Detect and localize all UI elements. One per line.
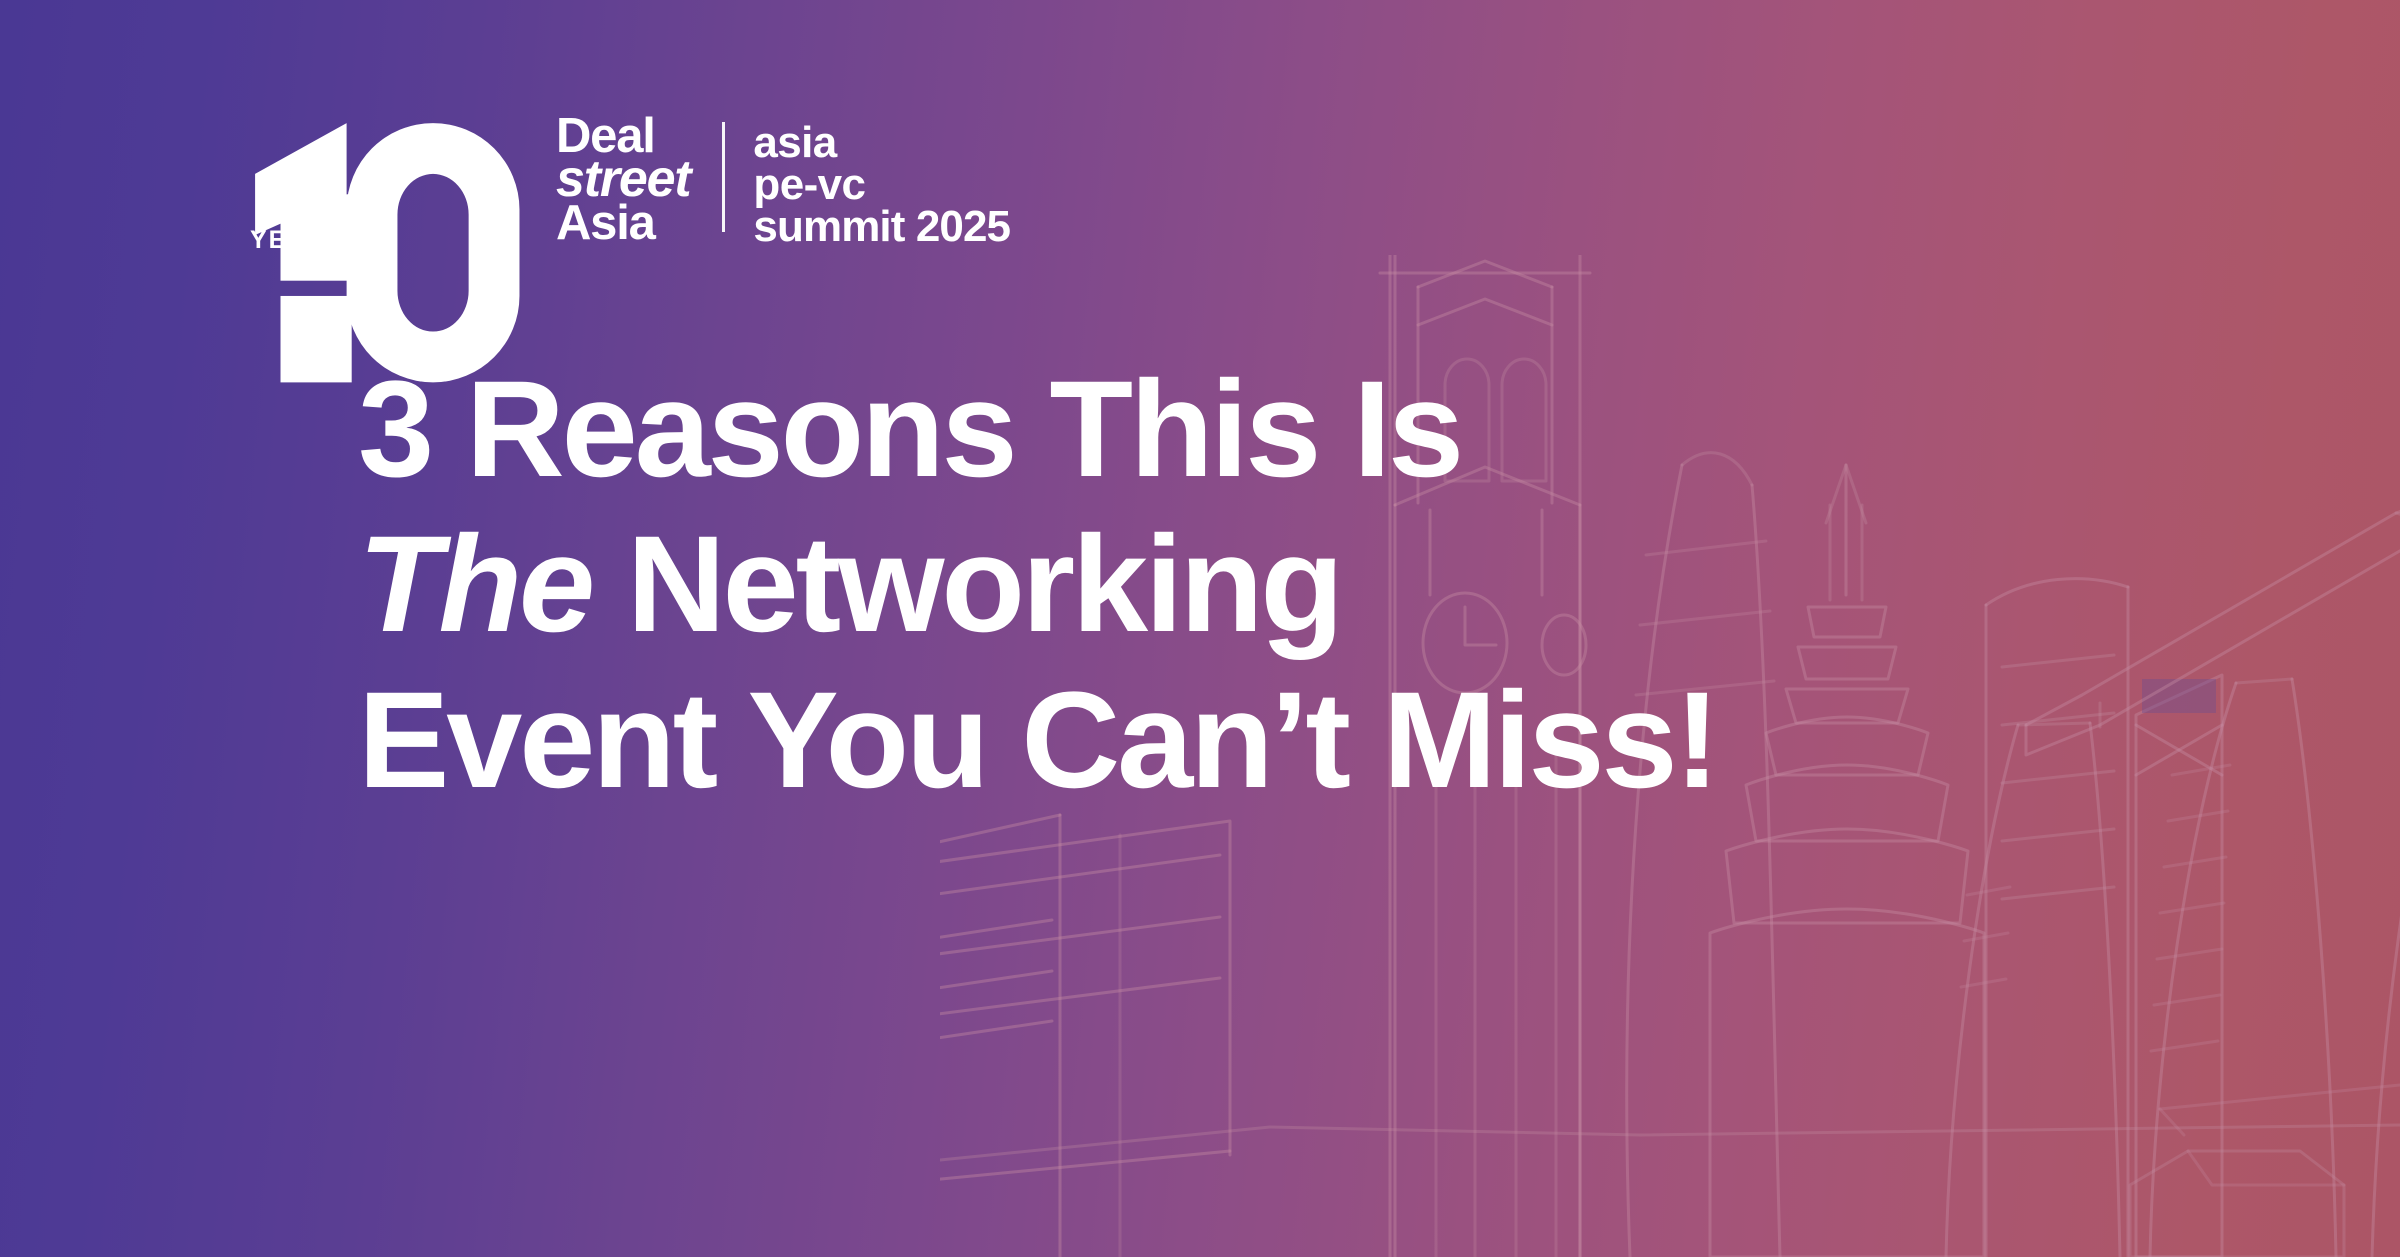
- building-banded-block: [940, 821, 1230, 1257]
- event-line-pe-vc: pe-vc: [753, 164, 1010, 206]
- lattice-structure: [2136, 675, 2222, 1257]
- brand-logo-lockup: YEARS Deal street Asia asia pe-vc summit…: [250, 118, 1010, 218]
- headline: 3 Reasons This Is The Networking Event Y…: [358, 352, 2118, 818]
- dealstreetasia-wordmark: Deal street Asia: [556, 114, 690, 246]
- event-name-block: asia pe-vc summit 2025: [753, 122, 1010, 249]
- pavilion-low-right: [2130, 1151, 2344, 1257]
- headline-emphasis-the: The: [358, 508, 592, 661]
- anniversary-years-label: YEARS: [250, 228, 346, 253]
- headline-line-2-rest: Networking: [592, 508, 1341, 661]
- event-line-asia: asia: [753, 122, 1010, 164]
- logo-divider: [722, 122, 725, 232]
- headline-line-2: The Networking: [358, 507, 2118, 662]
- jetty-lines: [2160, 1085, 2400, 1135]
- event-line-summit: summit 2025: [753, 206, 1010, 248]
- headline-line-3: Event You Can’t Miss!: [358, 663, 2118, 818]
- headline-line-1: 3 Reasons This Is: [358, 352, 2118, 507]
- promotional-banner: YEARS Deal street Asia asia pe-vc summit…: [0, 0, 2400, 1257]
- tower-slab-left: [940, 815, 1060, 1257]
